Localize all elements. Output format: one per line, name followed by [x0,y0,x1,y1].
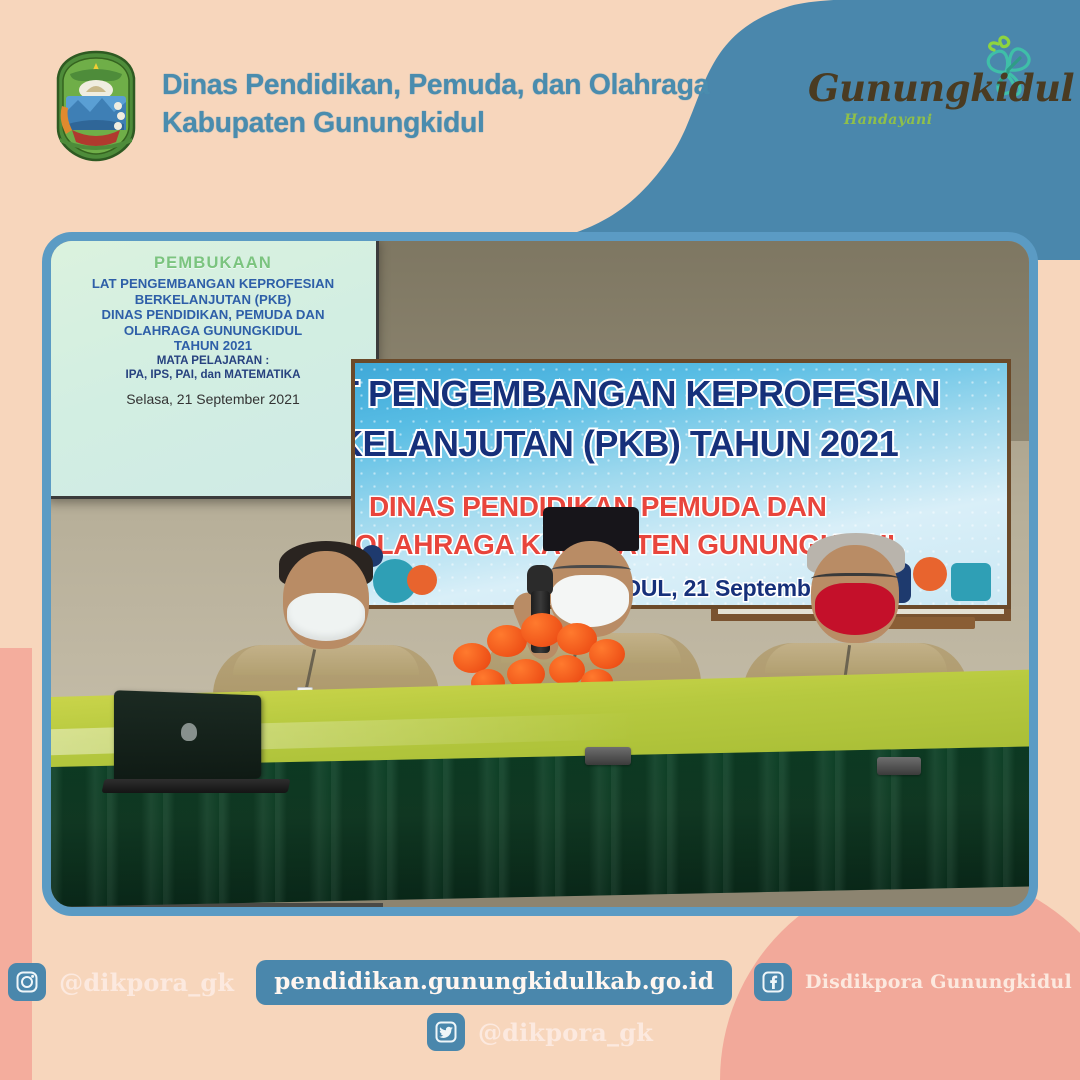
facebook-icon[interactable] [754,963,792,1001]
instagram-handle: @dikpora_gk [59,968,234,997]
slide-line-2: BERKELANJUTAN (PKB) [56,292,370,308]
footer-row-secondary: @dikpora_gk [0,1010,1080,1054]
page-title: Dinas Pendidikan, Pemuda, dan Olahraga K… [162,66,709,142]
mobile-phone [877,757,921,775]
presentation-slide: PEMBUKAAN LAT PENGEMBANGAN KEPROFESIAN B… [50,240,376,496]
banner-line-1: T PENGEMBANGAN KEPROFESIAN [351,373,1011,415]
slide-line-3: DINAS PENDIDIKAN, PEMUDA DAN [56,307,370,323]
twitter-icon[interactable] [427,1013,465,1051]
slide-title: PEMBUKAAN [56,254,370,273]
twitter-link[interactable]: @dikpora_gk [427,1013,653,1051]
banner-line-2: KELANJUTAN (PKB) TAHUN 2021 [351,423,1011,465]
instagram-link[interactable]: @dikpora_gk [8,963,234,1001]
event-photo-card: PEMBUKAAN LAT PENGEMBANGAN KEPROFESIAN B… [42,232,1038,916]
slide-date: Selasa, 21 September 2021 [56,391,370,407]
social-media-footer: @dikpora_gk pendidikan.gunungkidulkab.go… [0,948,1080,1080]
instagram-icon[interactable] [8,963,46,1001]
projector-screen: PEMBUKAAN LAT PENGEMBANGAN KEPROFESIAN B… [47,237,379,499]
slide-subjects: IPA, IPS, PAI, dan MATEMATIKA [56,368,370,383]
twitter-handle: @dikpora_gk [478,1018,653,1047]
slide-subject-label: MATA PELAJARAN : [56,354,370,369]
website-url: pendidikan.gunungkidulkab.go.id [274,968,714,995]
slide-line-5: TAHUN 2021 [56,338,370,354]
laptop-brand-logo-icon [181,723,197,741]
event-photograph: PEMBUKAAN LAT PENGEMBANGAN KEPROFESIAN B… [51,241,1029,907]
laptop-keyboard-base [102,779,291,793]
poster-header: Dinas Pendidikan, Pemuda, dan Olahraga K… [0,0,1080,200]
facebook-link[interactable]: Disdikpora Gunungkidul [754,963,1072,1001]
gunungkidul-regency-emblem [48,50,144,162]
slide-line-1: LAT PENGEMBANGAN KEPROFESIAN [56,276,370,292]
page-title-line-2: Kabupaten Gunungkidul [162,104,709,142]
slide-line-4: OLAHRAGA GUNUNGKIDUL [56,323,370,339]
facebook-page-name: Disdikpora Gunungkidul [805,971,1072,993]
mobile-phone [585,747,631,765]
brand-wordmark: Gunungkidul [808,66,1074,110]
website-url-pill[interactable]: pendidikan.gunungkidulkab.go.id [256,960,732,1005]
poster-canvas: Dinas Pendidikan, Pemuda, dan Olahraga K… [0,0,1080,1080]
brand-tagline: Handayani [844,112,933,128]
page-title-line-1: Dinas Pendidikan, Pemuda, dan Olahraga [162,66,709,104]
gunungkidul-brand-logo: Gunungkidul Handayani [808,36,1038,132]
footer-row-primary: @dikpora_gk pendidikan.gunungkidulkab.go… [0,960,1080,1004]
